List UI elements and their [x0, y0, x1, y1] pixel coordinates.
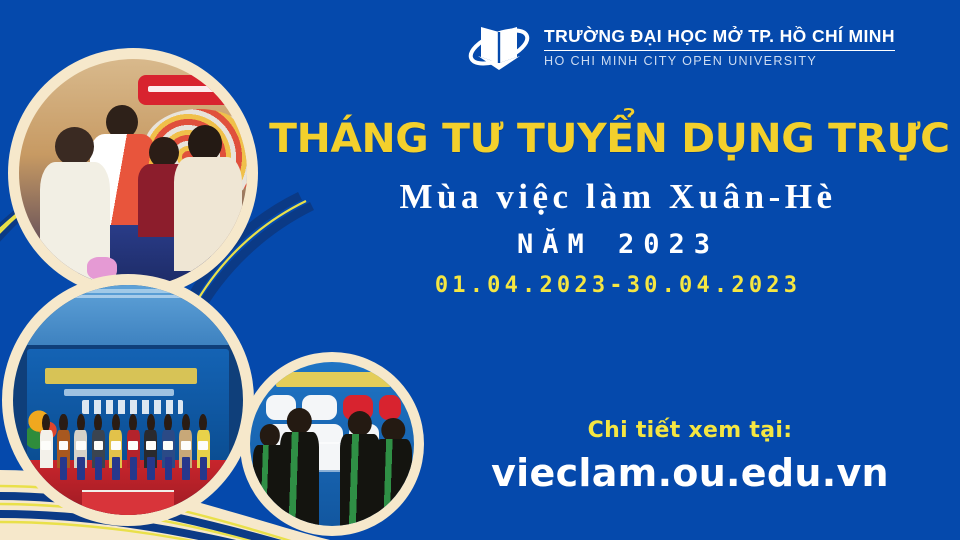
photo-award-ceremony — [2, 274, 254, 526]
page-title: THÁNG TƯ TUYỂN DỤNG TRỰC TUYẾN — [269, 118, 960, 160]
photo-career-fair-booth-image — [19, 59, 247, 287]
brand-name-vi: TRƯỜNG ĐẠI HỌC MỞ TP. HỒ CHÍ MINH — [544, 26, 895, 51]
open-book-orbit-logo — [468, 16, 530, 74]
year-label: NĂM 2023 — [276, 229, 960, 260]
recruitment-poster: TRƯỜNG ĐẠI HỌC MỞ TP. HỒ CHÍ MINH HO CHI… — [0, 0, 960, 540]
subtitle: Mùa việc làm Xuân-Hè — [276, 178, 960, 217]
headline-block: THÁNG TƯ TUYỂN DỤNG TRỰC TUYẾN Mùa việc … — [276, 118, 960, 298]
call-to-action: Chi tiết xem tại: vieclam.ou.edu.vn — [440, 418, 940, 495]
date-range: 01.04.2023-30.04.2023 — [276, 273, 960, 298]
photo-sponsor-wall-image — [250, 362, 414, 526]
cta-label: Chi tiết xem tại: — [440, 418, 940, 443]
cta-url[interactable]: vieclam.ou.edu.vn — [440, 451, 940, 495]
photo-career-fair-booth — [8, 48, 258, 298]
photo-sponsor-wall — [240, 352, 424, 536]
brand-name-en: HO CHI MINH CITY OPEN UNIVERSITY — [544, 54, 895, 68]
university-brand: TRƯỜNG ĐẠI HỌC MỞ TP. HỒ CHÍ MINH HO CHI… — [468, 16, 895, 74]
photo-award-ceremony-image — [13, 285, 243, 515]
